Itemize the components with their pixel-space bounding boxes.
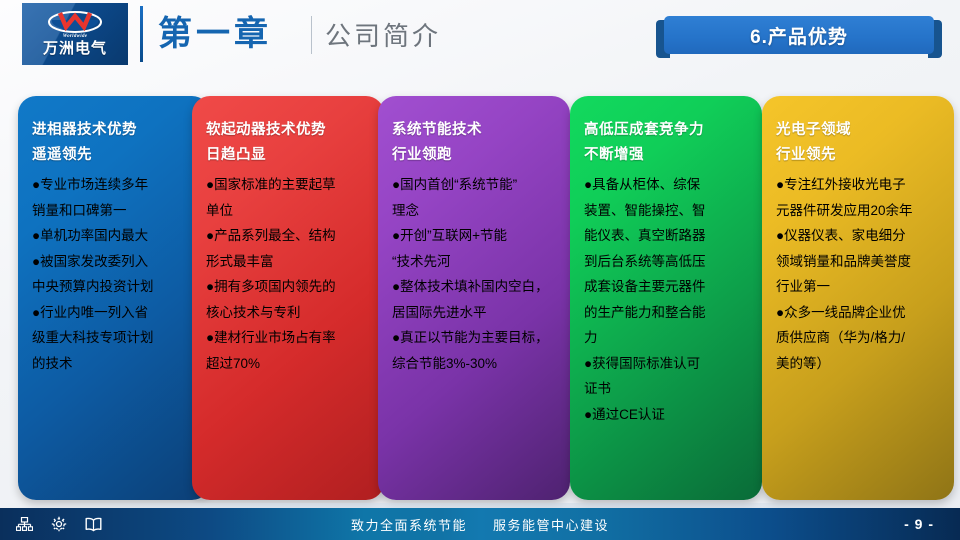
card-title-line2: 行业领跑 <box>392 143 560 168</box>
advantage-card[interactable]: 进相器技术优势 遥遥领先 ●专业市场连续多年 销量和口碑第一 ●单机功率国内最大… <box>18 96 210 500</box>
book-icon[interactable] <box>85 517 102 532</box>
advantage-card[interactable]: 高低压成套竞争力 不断增强 ●具备从柜体、综保 装置、智能操控、智 能仪表、真空… <box>570 96 762 500</box>
card-line: ●国内首创“系统节能” <box>392 172 560 198</box>
section-title-banner: 6.产品优势 <box>656 16 942 58</box>
card-line: ●真正以节能为主要目标， <box>392 325 560 351</box>
card-line: ●具备从柜体、综保 <box>584 172 752 198</box>
section-title-text: 6.产品优势 <box>750 22 848 49</box>
card-body: ●具备从柜体、综保 装置、智能操控、智 能仪表、真空断路器 到后台系统等高低压 … <box>584 172 752 427</box>
card-line: ●建材行业市场占有率 <box>206 325 374 351</box>
card-line: ●产品系列最全、结构 <box>206 223 374 249</box>
advantage-card[interactable]: 软起动器技术优势 日趋凸显 ●国家标准的主要起草 单位 ●产品系列最全、结构 形… <box>192 96 384 500</box>
card-line: 级重大科技专项计划 <box>32 325 200 351</box>
chapter-divider <box>311 16 312 54</box>
card-title-line1: 进相器技术优势 <box>32 118 200 143</box>
footer-slogan-left: 致力全面系统节能 <box>351 515 467 534</box>
card-line: ●众多一线品牌企业优 <box>776 300 944 326</box>
card-line: 综合节能3%-30% <box>392 351 560 377</box>
card-line: 美的等） <box>776 351 944 377</box>
card-line: ●专业市场连续多年 <box>32 172 200 198</box>
card-title-line2: 日趋凸显 <box>206 143 374 168</box>
card-title-line1: 系统节能技术 <box>392 118 560 143</box>
footer-slogan-right: 服务能管中心建设 <box>493 515 609 534</box>
card-line: ●仪器仪表、家电细分 <box>776 223 944 249</box>
card-line: 质供应商（华为/格力/ <box>776 325 944 351</box>
card-line: ●行业内唯一列入省 <box>32 300 200 326</box>
card-title-line2: 遥遥领先 <box>32 143 200 168</box>
footer-slogan: 致力全面系统节能 服务能管中心建设 <box>0 508 960 540</box>
header-divider-bar <box>140 6 143 62</box>
card-line: 的生产能力和整合能 <box>584 300 752 326</box>
card-line: 核心技术与专利 <box>206 300 374 326</box>
card-body: ●专注红外接收光电子 元器件研发应用20余年 ●仪器仪表、家电细分 领域销量和品… <box>776 172 944 376</box>
chapter-subtitle: 公司简介 <box>325 18 441 54</box>
card-line: 元器件研发应用20余年 <box>776 198 944 224</box>
card-line: 证书 <box>584 376 752 402</box>
card-line: 能仪表、真空断路器 <box>584 223 752 249</box>
card-body: ●专业市场连续多年 销量和口碑第一 ●单机功率国内最大 ●被国家发改委列入 中央… <box>32 172 200 376</box>
card-title-line1: 光电子领域 <box>776 118 944 143</box>
card-title-line2: 不断增强 <box>584 143 752 168</box>
card-line: ●被国家发改委列入 <box>32 249 200 275</box>
card-line: 领域销量和品牌美誉度 <box>776 249 944 275</box>
card-line: ●单机功率国内最大 <box>32 223 200 249</box>
logo-sub-text: Worldwide <box>63 34 88 39</box>
card-line: ●获得国际标准认可 <box>584 351 752 377</box>
advantage-card[interactable]: 光电子领域 行业领先 ●专注红外接收光电子 元器件研发应用20余年 ●仪器仪表、… <box>762 96 954 500</box>
logo-company-name: 万洲电气 <box>43 40 107 58</box>
card-line: 装置、智能操控、智 <box>584 198 752 224</box>
company-logo[interactable]: Worldwide 万洲电气 <box>22 3 128 65</box>
card-line: 到后台系统等高低压 <box>584 249 752 275</box>
page-number: - 9 - <box>904 508 934 540</box>
advantage-card-list: 进相器技术优势 遥遥领先 ●专业市场连续多年 销量和口碑第一 ●单机功率国内最大… <box>0 96 960 500</box>
gear-icon[interactable] <box>51 516 67 532</box>
card-line: 销量和口碑第一 <box>32 198 200 224</box>
card-title-line2: 行业领先 <box>776 143 944 168</box>
card-line: “技术先河 <box>392 249 560 275</box>
slide-footer: 致力全面系统节能 服务能管中心建设 - 9 - <box>0 508 960 540</box>
slide-header: Worldwide 万洲电气 第一章 公司简介 6.产品优势 <box>0 0 960 86</box>
card-line: 行业第一 <box>776 274 944 300</box>
card-line: 超过70% <box>206 351 374 377</box>
card-line: ●通过CE认证 <box>584 402 752 428</box>
card-line: 的技术 <box>32 351 200 377</box>
advantage-card[interactable]: 系统节能技术 行业领跑 ●国内首创“系统节能” 理念 ●开创”互联网+节能 “技… <box>378 96 570 500</box>
card-line: ●专注红外接收光电子 <box>776 172 944 198</box>
card-title-line1: 高低压成套竞争力 <box>584 118 752 143</box>
card-line: 成套设备主要元器件 <box>584 274 752 300</box>
footer-icon-group <box>16 508 102 540</box>
card-line: ●国家标准的主要起草 <box>206 172 374 198</box>
w-shield-icon <box>46 11 104 35</box>
card-line: 理念 <box>392 198 560 224</box>
card-line: 形式最丰富 <box>206 249 374 275</box>
card-line: ●开创”互联网+节能 <box>392 223 560 249</box>
banner-body: 6.产品优势 <box>664 16 934 54</box>
card-line: ●整体技术填补国内空白， <box>392 274 560 300</box>
card-line: 中央预算内投资计划 <box>32 274 200 300</box>
sitemap-icon[interactable] <box>16 517 33 532</box>
card-body: ●国内首创“系统节能” 理念 ●开创”互联网+节能 “技术先河 ●整体技术填补国… <box>392 172 560 376</box>
card-body: ●国家标准的主要起草 单位 ●产品系列最全、结构 形式最丰富 ●拥有多项国内领先… <box>206 172 374 376</box>
card-title-line1: 软起动器技术优势 <box>206 118 374 143</box>
chapter-title: 第一章 <box>158 12 272 56</box>
card-line: ●拥有多项国内领先的 <box>206 274 374 300</box>
card-line: 力 <box>584 325 752 351</box>
card-line: 居国际先进水平 <box>392 300 560 326</box>
card-line: 单位 <box>206 198 374 224</box>
